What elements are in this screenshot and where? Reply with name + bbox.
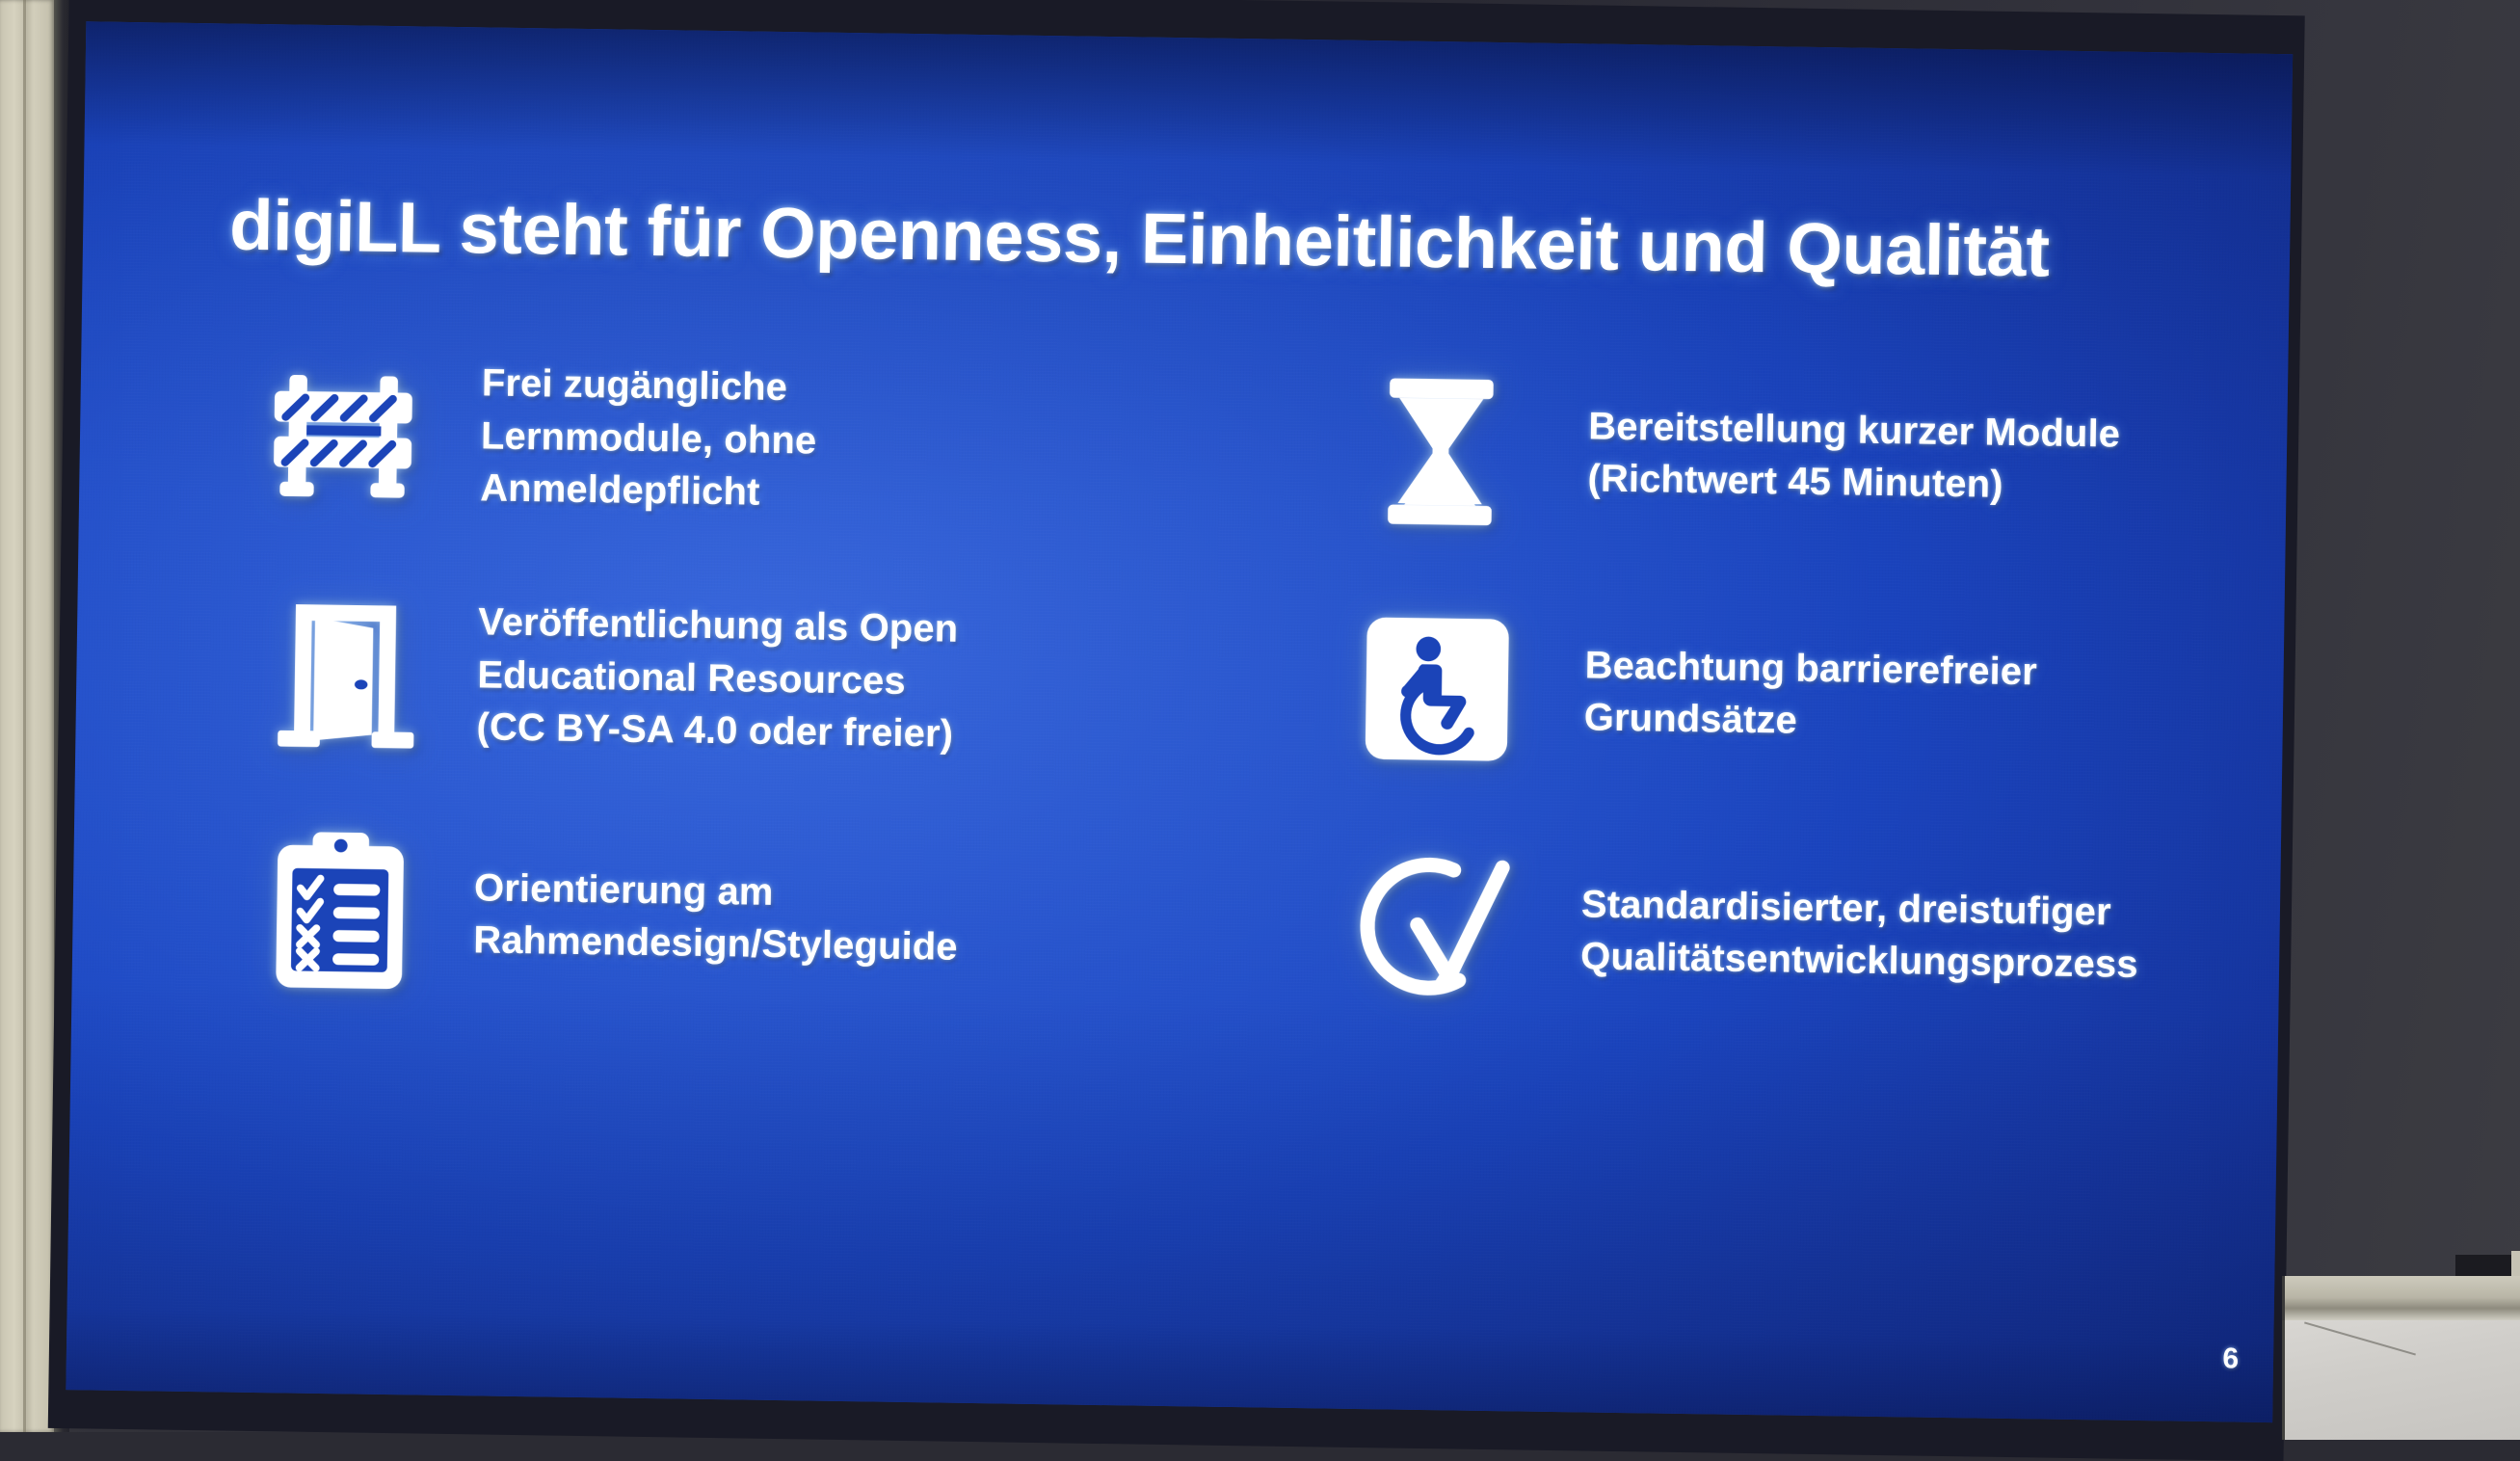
feature-text-line: Lernmodule, ohne [481,410,817,467]
feature-text-line: Anmeldepflicht [480,463,816,520]
feature-text-line: Orientierung am [474,862,959,921]
feature-text-line: (Richtwert 45 Minuten) [1587,452,2120,513]
feature-item-styleguide: Orientierung am Rahmendesign/Styleguide [71,788,1179,1044]
feature-item-short-modules: Bereitstellung kurzer Module (Richtwert … [1181,327,2289,582]
feature-text-line: Grundsätze [1583,691,2036,750]
feature-text: Frei zugängliche Lernmodule, ohne Anmeld… [480,358,818,519]
door-frame-seam [23,0,26,1432]
open-door-icon [251,580,437,766]
feature-text-line: Qualitätsentwicklungsprozess [1580,930,2138,991]
road-barrier-icon [254,341,440,527]
room-background: digiLL steht für Openness, Einheitlichke… [0,0,2520,1432]
clipboard-checklist-icon [247,819,433,1005]
feature-text-line: Veröffentlichung als Open [478,597,959,656]
flipchart-crease [2304,1322,2416,1356]
feature-item-oer-license: Veröffentlichung als Open Educational Re… [75,549,1182,805]
feature-text: Veröffentlichung als Open Educational Re… [476,597,958,761]
door-frame-strip [0,0,54,1432]
feature-item-accessibility: Beachtung barrierefreier Grundsätze [1178,566,2285,821]
flipchart-tray [2282,1276,2520,1322]
feature-text: Bereitstellung kurzer Module (Richtwert … [1587,400,2120,513]
feature-text-line: Rahmendesign/Styleguide [473,914,958,973]
projection-screen: digiLL steht für Openness, Einheitlichke… [48,0,2305,1461]
wheelchair-accessibility-icon [1344,597,1530,783]
flipchart-paper [2282,1320,2520,1440]
flipchart-board [2282,1276,2520,1440]
feature-text-line: Standardisierter, dreistufiger [1581,878,2139,939]
process-check-icon [1340,836,1526,1022]
presentation-slide: digiLL steht für Openness, Einheitlichke… [66,21,2293,1422]
slide-title: digiLL steht für Openness, Einheitlichke… [229,187,2158,290]
feature-text-line: Frei zugängliche [481,358,817,415]
feature-text-line: Bereitstellung kurzer Module [1588,400,2121,461]
feature-item-open-access: Frei zugängliche Lernmodule, ohne Anmeld… [78,310,1185,566]
feature-item-quality-process: Standardisierter, dreistufiger Qualitäts… [1175,805,2282,1060]
feature-text: Orientierung am Rahmendesign/Styleguide [473,862,959,973]
feature-text: Standardisierter, dreistufiger Qualitäts… [1580,878,2139,991]
slide-content: digiLL steht für Openness, Einheitlichke… [66,21,2293,1422]
feature-grid: Frei zugängliche Lernmodule, ohne Anmeld… [71,310,2289,1060]
feature-text: Beachtung barrierefreier Grundsätze [1583,639,2037,751]
feature-text-line: Beachtung barrierefreier [1584,639,2037,698]
feature-text-line: Educational Resources [477,649,958,708]
feature-text-line: (CC BY-SA 4.0 oder freier) [476,702,957,761]
slide-page-number: 6 [2222,1342,2239,1375]
hourglass-icon [1348,358,1534,544]
